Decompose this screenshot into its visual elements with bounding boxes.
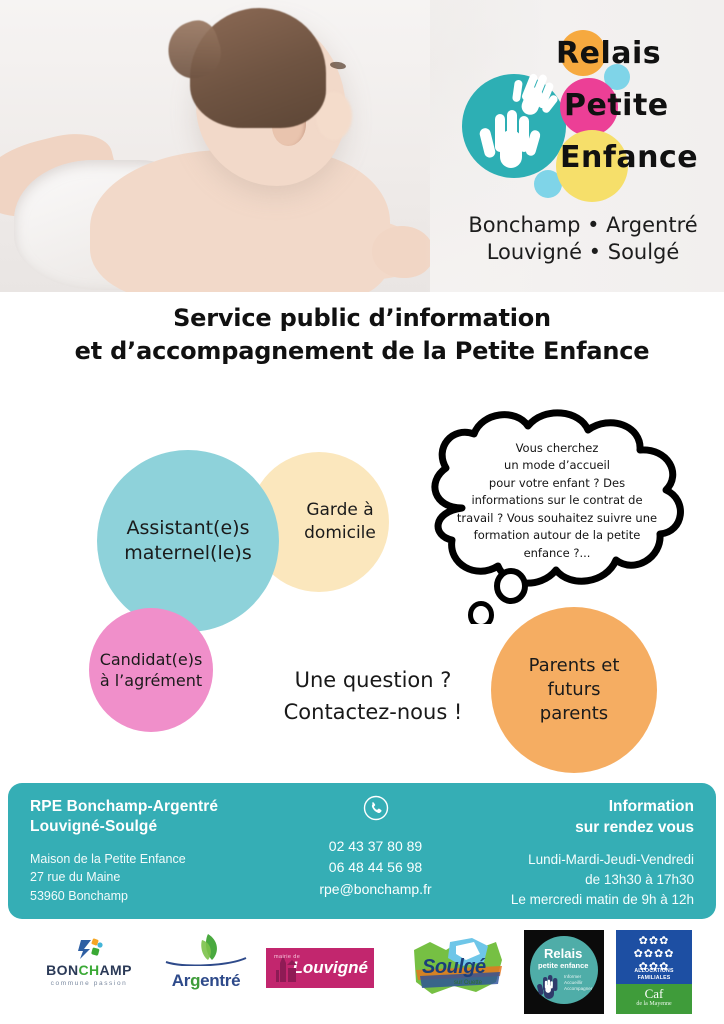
partner-logo-soulge: Soulgé sur Ouette (410, 936, 508, 998)
bubble-candidats-agrement: Candidat(e)sà l’agrément (89, 608, 213, 732)
footer-right-block: Informationsur rendez vous Lundi-Mardi-J… (424, 797, 694, 910)
partner-logo-louvigne: mairie de Louvigné (266, 948, 374, 988)
logo-word-relais: Relais (556, 36, 661, 71)
contact-prompt-line2: Contactez-nous ! (258, 697, 488, 729)
bonchamp-name: BONCHAMP (30, 962, 148, 978)
contact-prompt-line1: Une question ? (258, 665, 488, 697)
caf-name: Caf (616, 986, 692, 1002)
relais-hand-icon (536, 972, 562, 1000)
soulge-subtitle: sur Ouette (454, 980, 482, 986)
footer-opening-hours: Lundi-Mardi-Jeudi-Vendredide 13h30 à 17h… (424, 850, 694, 911)
footer-org-title: RPE Bonchamp-ArgentréLouvigné-Soulgé (30, 797, 290, 838)
page-title: Service public d’information et d’accomp… (0, 302, 724, 368)
partner-logo-relais-petite-enfance: Relais petite enfance InformerAccueillir… (524, 930, 604, 1014)
bubble-parents: Parents etfutursparents (491, 607, 657, 773)
contact-prompt: Une question ? Contactez-nous ! (258, 665, 488, 728)
bonchamp-tagline: commune passion (30, 980, 148, 987)
logo-word-enfance: Enfance (560, 140, 698, 175)
relais-logo-line2: petite enfance (538, 961, 588, 970)
louvigne-mairie-label: mairie de (274, 954, 300, 960)
bubble-assistantes-maternelles-label: Assistant(e)smaternel(le)s (124, 516, 251, 567)
argentre-name-text: Argentré (172, 971, 240, 990)
bubble-garde-a-domicile-label: Garde àdomicile (262, 499, 376, 545)
thought-bubble: Vous cherchezun mode d’accueilpour votre… (404, 404, 706, 624)
relais-logo-line1: Relais (544, 946, 582, 961)
contact-footer: RPE Bonchamp-ArgentréLouvigné-Soulgé Mai… (8, 783, 716, 919)
hero-banner: Relais Petite Enfance Bonchamp • Argentr… (0, 0, 724, 292)
bonchamp-name-text: BONCHAMP (46, 962, 132, 978)
argentre-leaf-icon (158, 932, 254, 966)
page-title-line1: Service public d’information (0, 302, 724, 335)
page-title-line2: et d’accompagnement de la Petite Enfance (0, 335, 724, 368)
partner-logo-caf-mayenne: ✿✿✿✿✿✿✿✿✿✿ ALLOCATIONSFAMILIALES Caf de … (616, 930, 692, 1014)
bubble-parents-label: Parents etfutursparents (529, 654, 620, 726)
bonchamp-mark-icon (30, 936, 148, 962)
partner-logos: BONCHAMP commune passion Argentré mairie… (0, 924, 724, 1022)
bubble-assistantes-maternelles: Assistant(e)smaternel(le)s (97, 450, 279, 632)
logo-towns: Bonchamp • ArgentréLouvigné • Soulgé (450, 212, 716, 266)
footer-address: Maison de la Petite Enfance27 rue du Mai… (30, 850, 290, 906)
baby-photo (0, 0, 430, 292)
partner-logo-argentre: Argentré (158, 932, 254, 991)
footer-info-title: Informationsur rendez vous (424, 797, 694, 839)
hand-icon-small (508, 66, 564, 120)
rpe-logo: Relais Petite Enfance (452, 22, 708, 208)
relais-logo-line3: InformerAccueillirAccompagner (564, 974, 592, 993)
baby-hand (372, 226, 430, 278)
caf-department: de la Mayenne (616, 1001, 692, 1007)
thought-bubble-text: Vous cherchezun mode d’accueilpour votre… (434, 440, 680, 562)
partner-logo-bonchamp: BONCHAMP commune passion (30, 936, 148, 987)
phone-icon (363, 795, 389, 826)
argentre-name: Argentré (158, 971, 254, 991)
caf-allocations-label: ALLOCATIONSFAMILIALES (616, 968, 692, 981)
soulge-name: Soulgé (422, 956, 486, 979)
footer-left-block: RPE Bonchamp-ArgentréLouvigné-Soulgé Mai… (30, 797, 290, 905)
bubble-candidats-agrement-label: Candidat(e)sà l’agrément (100, 649, 203, 692)
logo-word-petite: Petite (564, 88, 669, 123)
baby-hair (190, 8, 326, 128)
